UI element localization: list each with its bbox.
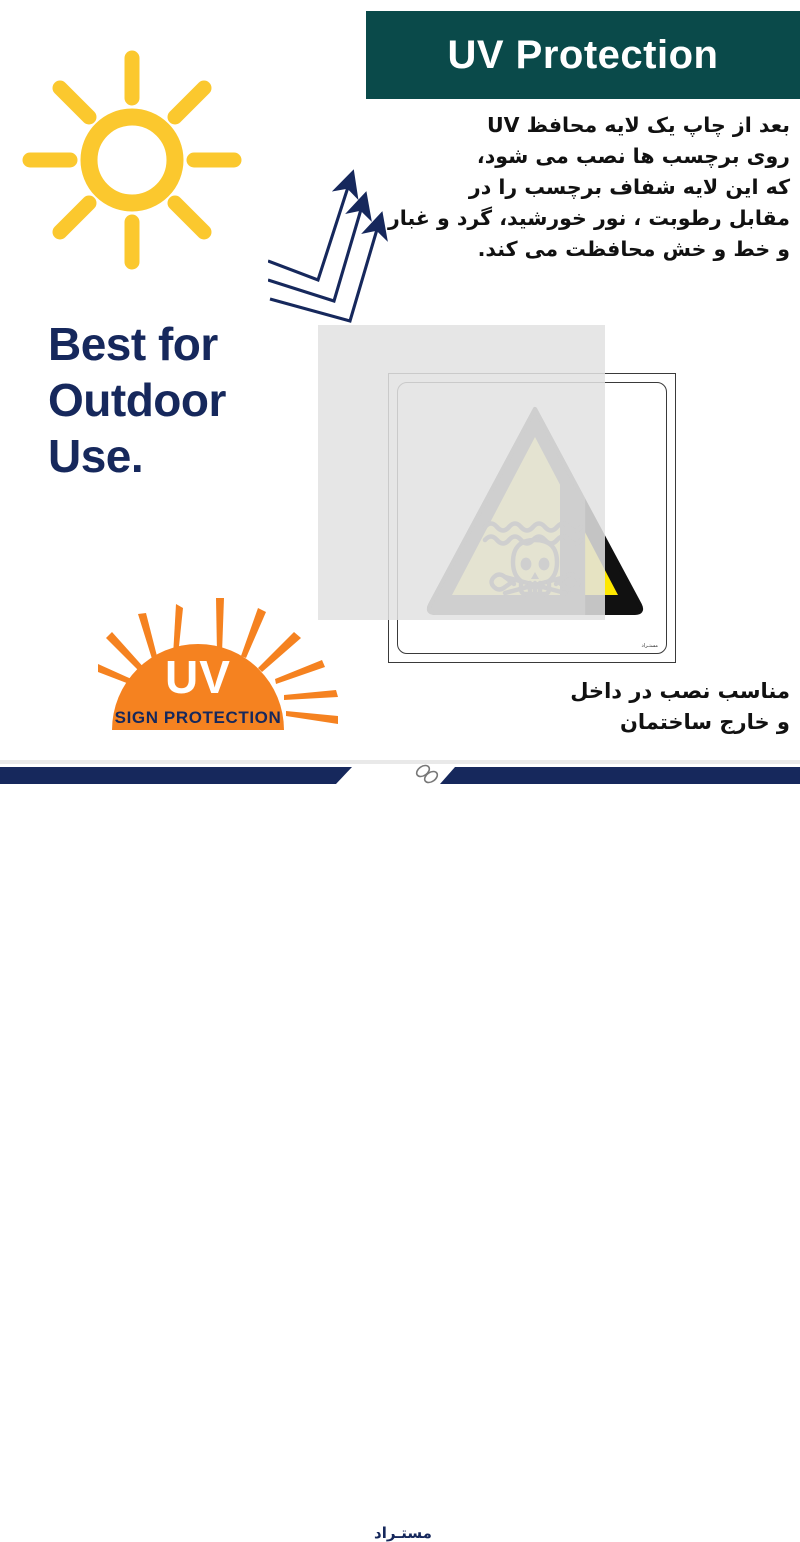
page-title: UV Protection (448, 33, 719, 78)
page-headline: Best for Outdoor Use. (48, 316, 348, 484)
infographic-canvas: UV Protection بعد از چاپ یک لایه محافظ U… (0, 0, 800, 800)
headline-line-3: Use. (48, 428, 348, 484)
headline-line-2: Outdoor (48, 372, 348, 428)
uv-sign-protection-logo: UV SIGN PROTECTION (98, 598, 348, 748)
uv-logo-sub-text: SIGN PROTECTION (115, 708, 332, 727)
description-line: روی برچسب ها نصب می شود، (378, 141, 790, 172)
description-line: که این لایه شفاف برچسب را در (378, 172, 790, 203)
footer-bar: مستـراد (0, 760, 800, 800)
footer-brand-text: مستـراد (363, 1524, 443, 1542)
headline-line-1: Best for (48, 316, 348, 372)
bottom-caption-line: و خارج ساختمان (420, 707, 790, 738)
bottom-caption-line: مناسب نصب در داخل (420, 676, 790, 707)
uv-reflection-arrows-icon (268, 168, 418, 328)
header-banner: UV Protection (366, 11, 800, 99)
sun-icon (22, 50, 242, 270)
description-line: مقابل رطوبت ، نور خورشید، گرد و غبار (378, 203, 790, 234)
sign-inner-frame: مستـراد (397, 382, 667, 654)
hazard-sign-mockup: مستـراد (318, 325, 678, 670)
description-line: بعد از چاپ یک لایه محافظ UV (378, 110, 790, 141)
sign-watermark: مستـراد (642, 643, 659, 649)
hazard-warning-triangle (422, 397, 648, 623)
chain-link-icon (415, 763, 440, 785)
description-line: و خط و خش محافظت می کند. (378, 234, 790, 265)
uv-logo-main-text: UV (165, 651, 281, 703)
bottom-caption-fa: مناسب نصب در داخل و خارج ساختمان (420, 676, 790, 738)
description-paragraph-fa: بعد از چاپ یک لایه محافظ UV روی برچسب ها… (378, 110, 790, 265)
sign-outer-frame: مستـراد (388, 373, 676, 663)
